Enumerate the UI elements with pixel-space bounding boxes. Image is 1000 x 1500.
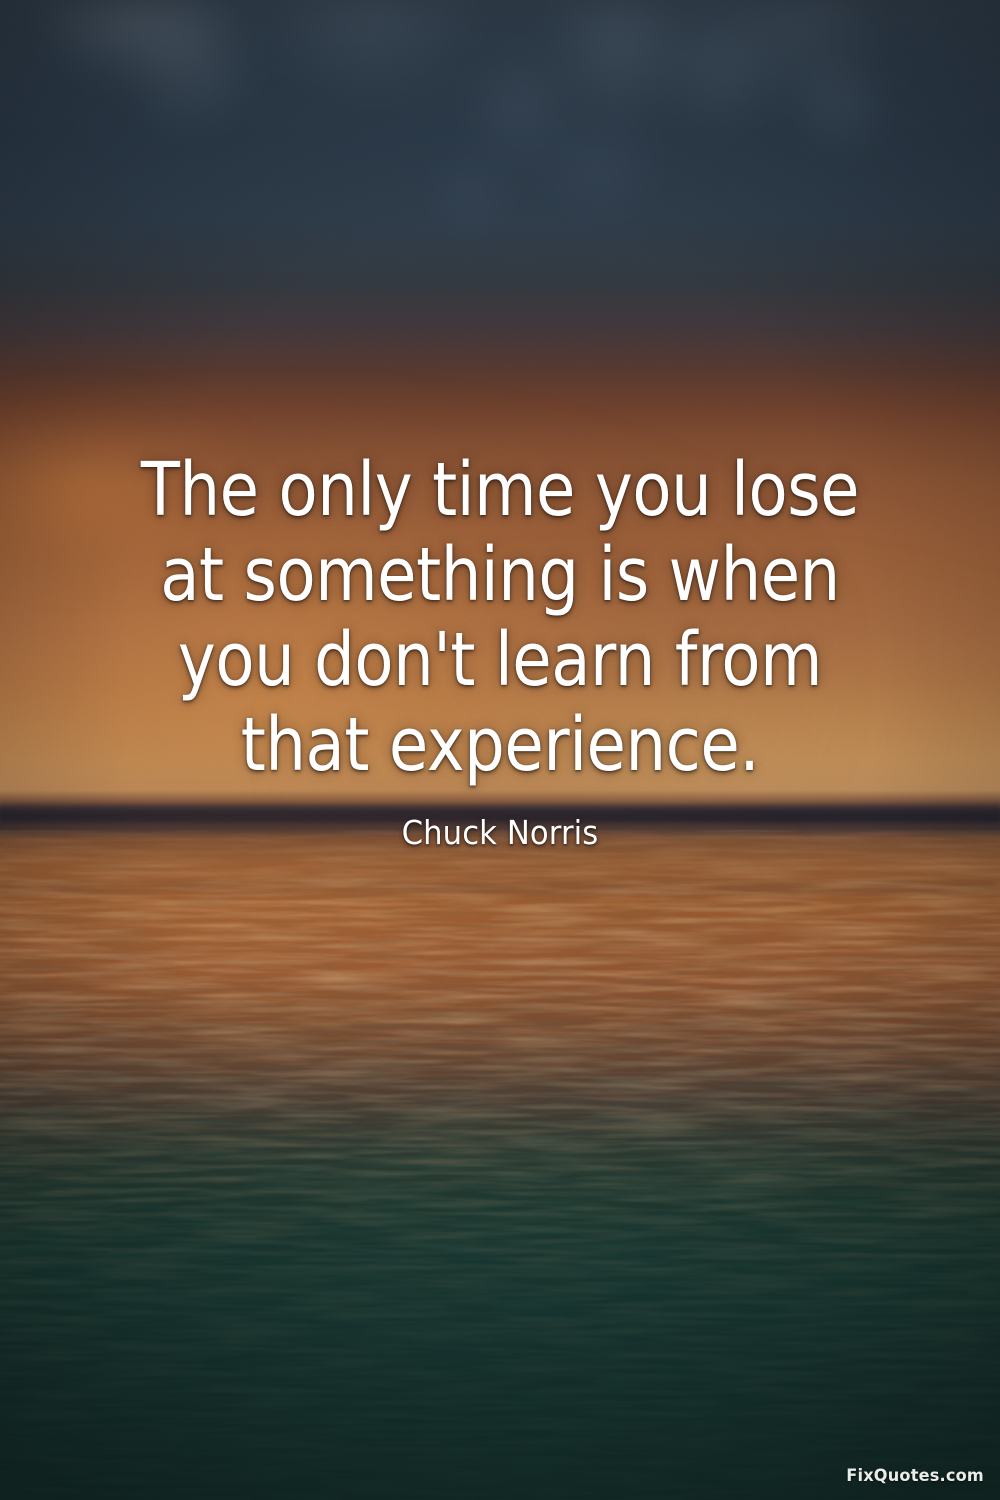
poster-content: The only time you lose at something is w… (0, 0, 1000, 1500)
quote-line-4: that experience. (68, 703, 933, 788)
site-watermark: FixQuotes.com (846, 1466, 984, 1486)
quote-poster: The only time you lose at something is w… (0, 0, 1000, 1500)
quote-author: Chuck Norris (35, 812, 965, 854)
quote-line-3: you don't learn from (68, 618, 933, 703)
quote-line-2: at something is when (68, 533, 933, 618)
quote-text-block: The only time you lose at something is w… (0, 448, 1000, 788)
quote-line-1: The only time you lose (68, 448, 933, 533)
